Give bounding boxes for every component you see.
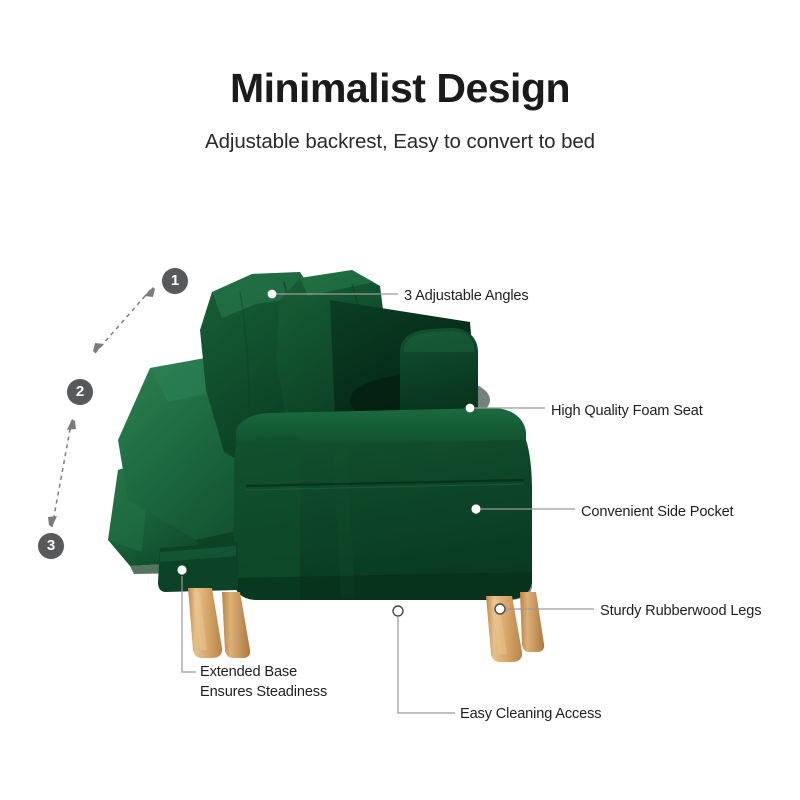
callout-label-rubberwood-legs: Sturdy Rubberwood Legs <box>600 601 761 621</box>
callout-label-foam-seat: High Quality Foam Seat <box>551 401 703 421</box>
step-badge-3[interactable]: 3 <box>38 533 64 559</box>
callout-label-extended-base: Extended Base Ensures Steadiness <box>200 662 327 702</box>
step-badge-2[interactable]: 2 <box>67 379 93 405</box>
callout-label-extended-base-line2: Ensures Steadiness <box>200 682 327 702</box>
product-illustration <box>0 0 800 800</box>
callout-label-extended-base-line1: Extended Base <box>200 664 297 680</box>
callout-label-cleaning-access: Easy Cleaning Access <box>460 704 601 724</box>
step-badge-1[interactable]: 1 <box>162 268 188 294</box>
callout-label-side-pocket: Convenient Side Pocket <box>581 502 733 522</box>
leg-rear-left <box>222 592 250 658</box>
armrest <box>400 328 478 418</box>
leg-rear-right <box>520 592 544 652</box>
callout-label-adjustable-angles: 3 Adjustable Angles <box>404 286 529 306</box>
seat-base <box>234 408 532 600</box>
infographic-page: Minimalist Design Adjustable backrest, E… <box>0 0 800 800</box>
rear-frame-rail <box>158 542 238 592</box>
sofa-artwork <box>0 0 800 800</box>
